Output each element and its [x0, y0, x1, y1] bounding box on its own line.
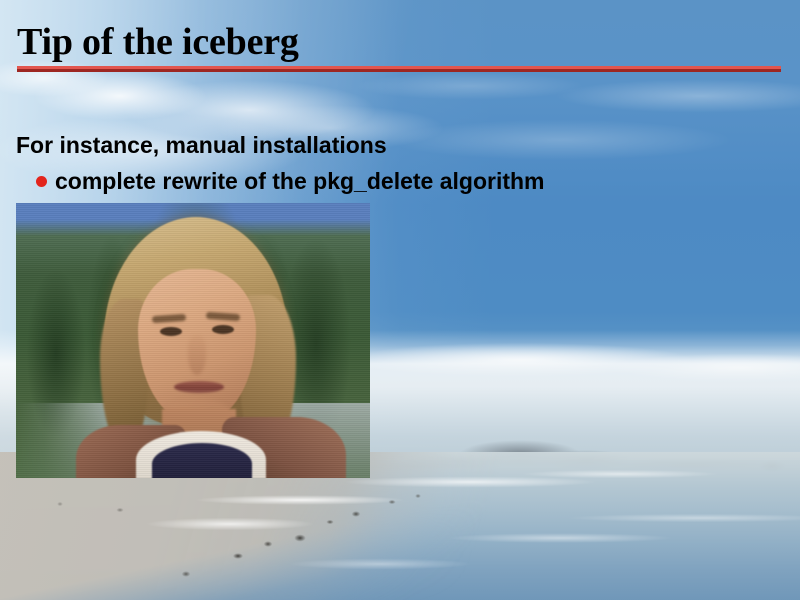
- slide-photo: [16, 203, 370, 478]
- body-intro-text: For instance, manual installations: [16, 131, 387, 159]
- bullet-item-label: complete rewrite of the pkg_delete algor…: [55, 167, 545, 195]
- bullet-dot-icon: [36, 176, 47, 187]
- photo-eye-right: [212, 325, 234, 334]
- slide-title: Tip of the iceberg: [17, 21, 299, 63]
- photo-sweater: [152, 443, 252, 478]
- bullet-list-item: complete rewrite of the pkg_delete algor…: [36, 167, 545, 195]
- title-underline-rule: [17, 66, 781, 72]
- photo-nose: [188, 335, 206, 375]
- photo-eye-left: [160, 327, 182, 336]
- photo-mouth: [174, 381, 224, 393]
- presentation-slide: Tip of the iceberg For instance, manual …: [0, 0, 800, 600]
